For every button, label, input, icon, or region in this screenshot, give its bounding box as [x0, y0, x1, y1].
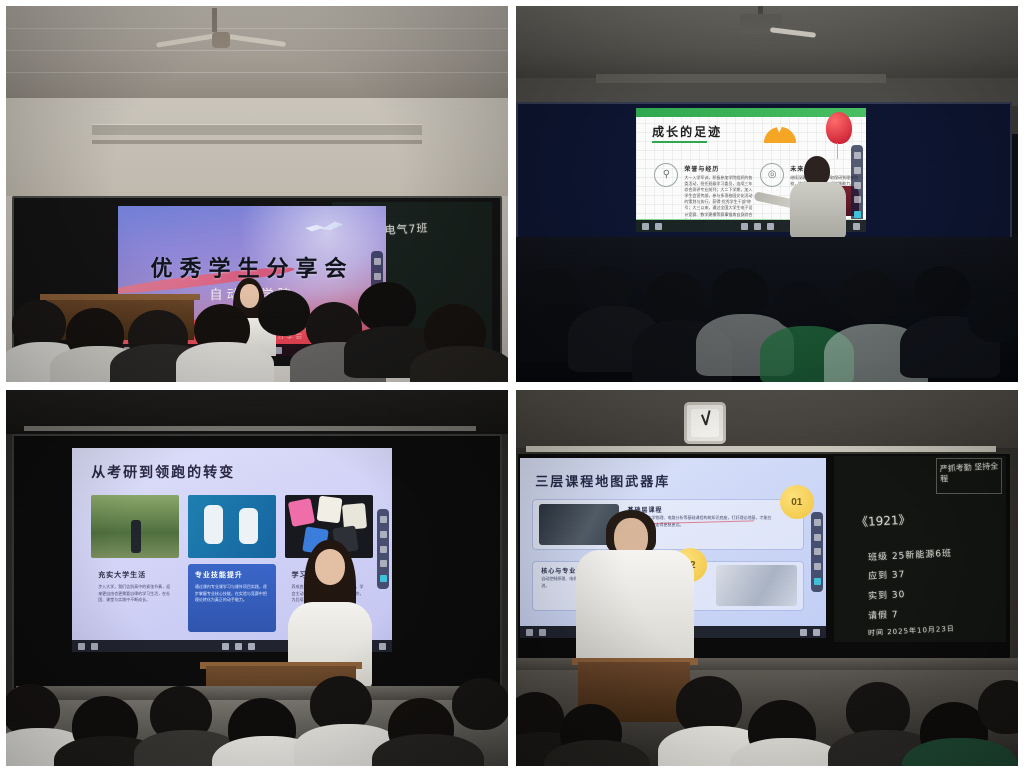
blackboard-line: 应到 37 — [868, 567, 906, 582]
more-icon[interactable] — [854, 211, 861, 218]
classroom-board: 从考研到领跑的转变 充实大学生活 步入大学，我们告别高中的紧张节奏，迎来更自由也… — [12, 434, 502, 690]
back-icon[interactable] — [91, 643, 98, 650]
home-icon[interactable] — [741, 223, 748, 230]
blackboard-line: 班级 25新能源6班 — [868, 546, 953, 563]
slide-title: 从考研到领跑的转变 — [91, 462, 235, 482]
illustration-students — [188, 495, 276, 558]
card-heading: 专业技能提升 — [195, 570, 269, 580]
cast-icon[interactable] — [800, 629, 807, 636]
note-icon[interactable] — [374, 258, 381, 265]
settings-icon[interactable] — [853, 223, 860, 230]
eraser-icon[interactable] — [814, 548, 821, 555]
photo-campus — [91, 495, 179, 558]
row-thumbnail — [716, 565, 797, 606]
eraser-icon[interactable] — [854, 182, 861, 189]
board-top-edge — [24, 426, 476, 431]
blackboard-movie-title: 《1921》 — [856, 511, 911, 531]
note-icon[interactable] — [814, 519, 821, 526]
menu-icon[interactable] — [78, 643, 85, 650]
target-icon: ◎ — [760, 163, 784, 187]
photo-collage: 班级 25电气7班 应到 77 实到 67 请假 10 优秀学生分享会 自动化学… — [0, 0, 1024, 768]
pen-icon[interactable] — [814, 534, 821, 541]
photo-panel-4[interactable]: 严抓考勤 坚持全程 《1921》 班级 25新能源6班 应到 37 实到 30 … — [516, 390, 1018, 766]
bird-icon — [305, 220, 343, 234]
back-icon[interactable] — [655, 223, 662, 230]
slide-title: 三层课程地图武器库 — [535, 471, 670, 490]
eraser-icon[interactable] — [380, 546, 387, 553]
settings-icon[interactable] — [379, 643, 386, 650]
upper-wall — [6, 98, 508, 196]
ceiling — [516, 390, 1018, 448]
wall-rail — [92, 124, 422, 135]
audience — [516, 666, 1018, 766]
audience — [6, 272, 508, 382]
shape-icon[interactable] — [854, 196, 861, 203]
card-body: 步入大学，我们告别高中的紧张节奏，迎来更自由也更需要自律的学习生活，在社团、课堂… — [98, 584, 172, 603]
cast-icon[interactable] — [767, 223, 774, 230]
apps-icon[interactable] — [754, 223, 761, 230]
classroom-board: 成长的足迹 ⚲ 荣誉与经历 大一入学军训，积极参加学院组织的各类活动，担任班级学… — [516, 102, 1012, 241]
ceiling — [6, 6, 508, 98]
slide-tool-sidebar[interactable] — [377, 509, 389, 589]
shape-icon[interactable] — [814, 563, 821, 570]
wall-rail-shadow — [92, 140, 422, 144]
pen-icon[interactable] — [854, 167, 861, 174]
settings-icon[interactable] — [813, 629, 820, 636]
back-icon[interactable] — [539, 629, 546, 636]
photo-panel-2[interactable]: 成长的足迹 ⚲ 荣誉与经历 大一入学军训，积极参加学院组织的各类活动，担任班级学… — [516, 6, 1018, 382]
blackboard-line: 时间 2025年10月23日 — [868, 624, 955, 639]
photo-panel-3[interactable]: 从考研到领跑的转变 充实大学生活 步入大学，我们告别高中的紧张节奏，迎来更自由也… — [6, 390, 508, 766]
note-icon[interactable] — [380, 516, 387, 523]
pen-icon[interactable] — [380, 531, 387, 538]
note-icon[interactable] — [854, 152, 861, 159]
search-icon: ⚲ — [654, 163, 678, 187]
presenter — [788, 156, 848, 234]
balloon-icon — [826, 112, 852, 144]
blackboard-line: 实到 30 — [868, 587, 906, 602]
audience-area — [516, 237, 1018, 382]
more-icon[interactable] — [814, 578, 821, 585]
column-heading: 荣誉与经历 — [684, 164, 719, 173]
more-icon[interactable] — [380, 575, 387, 582]
blackboard-corner-note-box: 严抓考勤 坚持全程 — [936, 458, 1002, 494]
slide-title: 成长的足迹 — [652, 123, 722, 140]
cast-icon[interactable] — [248, 643, 255, 650]
home-icon[interactable] — [222, 643, 229, 650]
slide-tool-sidebar[interactable] — [811, 512, 823, 592]
wall-clock-icon — [684, 402, 726, 444]
ceiling-fan-icon — [156, 30, 286, 52]
card-heading: 充实大学生活 — [98, 570, 172, 580]
audience — [6, 670, 508, 766]
menu-icon[interactable] — [642, 223, 649, 230]
presenter — [576, 510, 696, 670]
column-body: 大一入学军训，积极参加学院组织的各类活动，担任班级学习委员，连续三年综合测评专业… — [684, 175, 754, 225]
apps-icon[interactable] — [235, 643, 242, 650]
slide-card: 专业技能提升 通过课内专业课学习与课外项目实践，逐步掌握专业核心技能，在实验与竞… — [188, 564, 276, 631]
blackboard-line: 请假 7 — [868, 607, 899, 622]
photo-panel-1[interactable]: 班级 25电气7班 应到 77 实到 67 请假 10 优秀学生分享会 自动化学… — [6, 6, 508, 382]
shape-icon[interactable] — [380, 560, 387, 567]
step-badge-01: 01 — [780, 485, 814, 519]
blackboard: 严抓考勤 坚持全程 《1921》 班级 25新能源6班 应到 37 实到 30 … — [834, 456, 1006, 642]
fan-rod — [212, 8, 217, 32]
slide-tool-sidebar[interactable] — [851, 145, 863, 225]
sunburst-icon — [754, 113, 806, 143]
card-body: 通过课内专业课学习与课外项目实践，逐步掌握专业核心技能，在实验与竞赛中把理论转化… — [195, 584, 269, 603]
wall-rail — [596, 74, 886, 83]
blackboard-corner-note: 严抓考勤 坚持全程 — [940, 461, 1002, 484]
slide-card: 充实大学生活 步入大学，我们告别高中的紧张节奏，迎来更自由也更需要自律的学习生活… — [91, 564, 179, 631]
menu-icon[interactable] — [526, 629, 533, 636]
